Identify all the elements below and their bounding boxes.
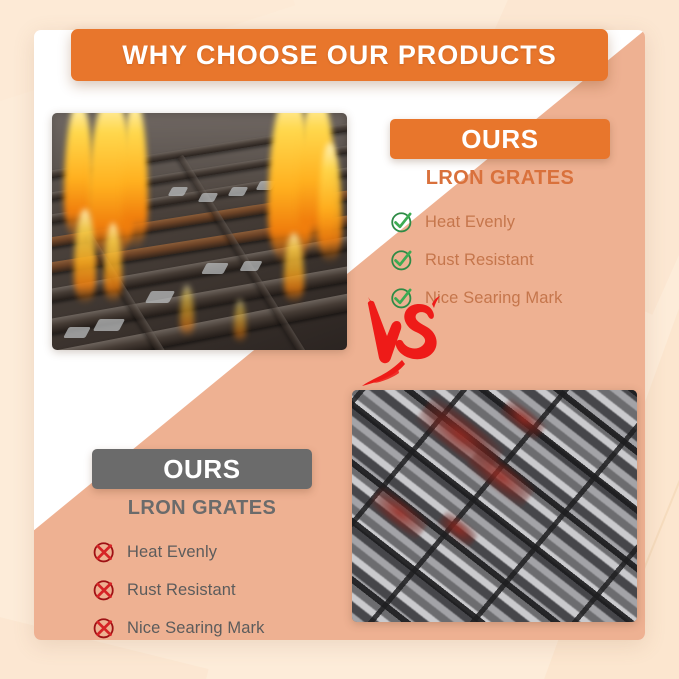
grill-bad-illustration	[352, 390, 637, 622]
feature-list-bad: Heat Evenly Rust Resistant Nice Searing …	[92, 536, 312, 644]
feature-label: Nice Searing Mark	[127, 619, 264, 638]
photo-good-grill	[52, 113, 347, 350]
x-circle-icon	[92, 578, 116, 602]
x-circle-icon	[92, 540, 116, 564]
feature-label: Heat Evenly	[425, 213, 515, 232]
subtitle-good: LRON GRATES	[390, 167, 610, 190]
check-circle-icon	[390, 248, 414, 272]
feature-row-bad-0: Heat Evenly	[92, 536, 312, 568]
x-circle-icon	[92, 616, 116, 640]
ours-badge-bad: OURS	[92, 449, 312, 489]
feature-row-good-1: Rust Resistant	[390, 244, 610, 276]
feature-row-bad-2: Nice Searing Mark	[92, 612, 312, 644]
feature-label: Heat Evenly	[127, 543, 217, 562]
ours-badge-good: OURS	[390, 119, 610, 159]
feature-row-good-0: Heat Evenly	[390, 206, 610, 238]
comparison-block-ours-good: OURS LRON GRATES Heat Evenly Rust Resist…	[390, 119, 610, 320]
ours-badge-bad-label: OURS	[163, 454, 241, 485]
comparison-block-ours-bad: OURS LRON GRATES Heat Evenly Rust Resist…	[92, 449, 312, 650]
grill-good-illustration	[52, 113, 347, 350]
feature-row-bad-1: Rust Resistant	[92, 574, 312, 606]
vs-icon	[358, 296, 450, 396]
photo-bad-grill	[352, 390, 637, 622]
ours-badge-good-label: OURS	[461, 124, 539, 155]
check-circle-icon	[390, 210, 414, 234]
page-title-banner: WHY CHOOSE OUR PRODUCTS	[71, 29, 608, 81]
page-title: WHY CHOOSE OUR PRODUCTS	[122, 40, 556, 71]
feature-label: Rust Resistant	[127, 581, 236, 600]
feature-label: Rust Resistant	[425, 251, 534, 270]
infographic-canvas: WHY CHOOSE OUR PRODUCTS	[0, 0, 679, 679]
subtitle-bad: LRON GRATES	[92, 497, 312, 520]
